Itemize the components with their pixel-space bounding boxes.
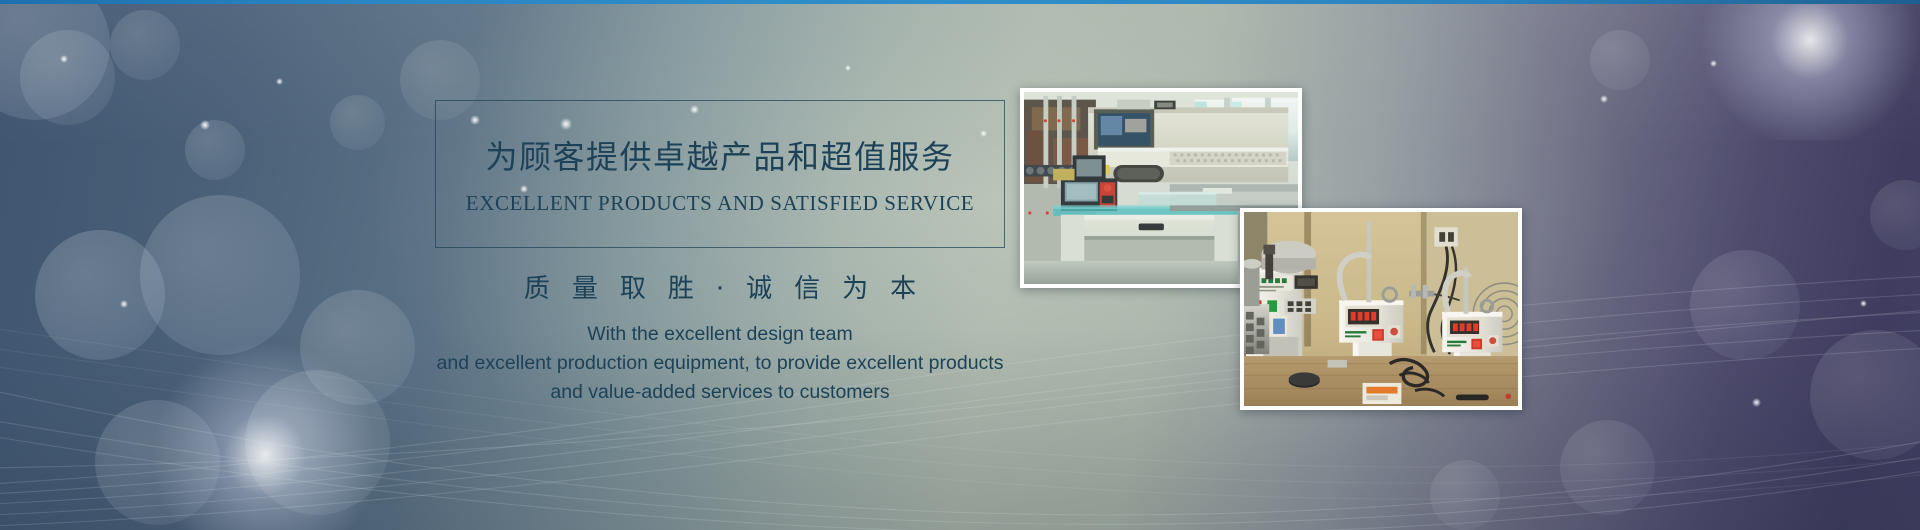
headline-chinese: 为顾客提供卓越产品和超值服务 xyxy=(435,132,1005,178)
description-paragraph: With the excellent design team and excel… xyxy=(330,320,1110,407)
hero-banner: 为顾客提供卓越产品和超值服务 EXCELLENT PRODUCTS AND SA… xyxy=(0,0,1920,530)
description-line-1: With the excellent design team xyxy=(330,320,1110,349)
description-line-3: and value-added services to customers xyxy=(330,378,1110,407)
headline-english: EXCELLENT PRODUCTS AND SATISFIED SERVICE xyxy=(435,191,1005,216)
description-line-2: and excellent production equipment, to p… xyxy=(330,349,1110,378)
workshop-press-machines-image xyxy=(1244,212,1518,406)
slogan-chinese: 质量取胜·诚信为本 xyxy=(420,268,1020,305)
workshop-press-machines-photo xyxy=(1240,208,1522,410)
